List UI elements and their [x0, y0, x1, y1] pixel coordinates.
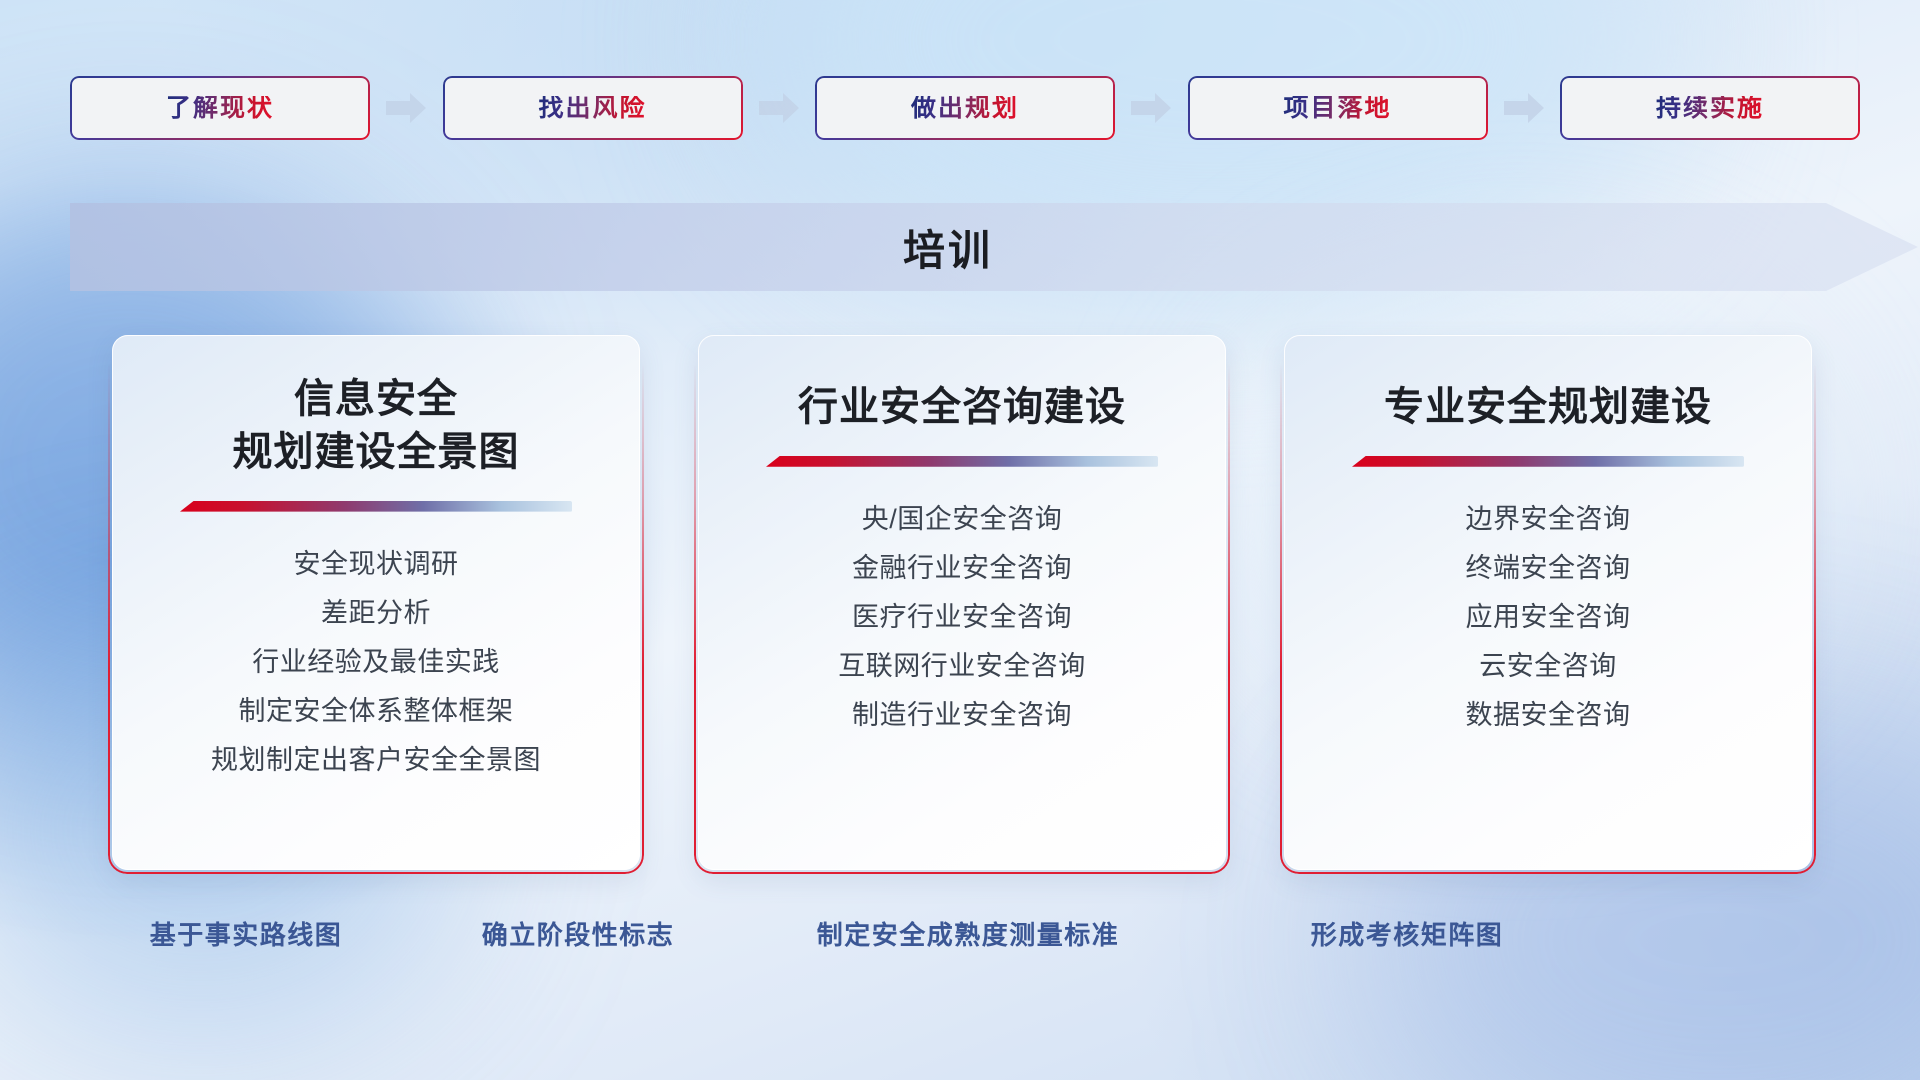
list-item: 制定安全体系整体框架 — [239, 693, 514, 729]
list-item: 行业经验及最佳实践 — [252, 644, 500, 680]
caption-row: 基于事实路线图 确立阶段性标志 制定安全成熟度测量标准 形成考核矩阵图 — [0, 915, 1920, 957]
process-step-flow: 了解现状 找出风险 做出规划 项目落地 — [70, 76, 1860, 140]
banner-arrow-shape — [70, 203, 1918, 291]
process-step-label: 项目落地 — [1283, 96, 1391, 121]
card-0[interactable]: 信息安全 规划建设全景图 安全现状调研 差距分析 行业经验及最佳实践 制定安全体… — [112, 335, 640, 870]
background-blob — [760, 0, 1660, 300]
arrow-right-icon — [757, 91, 801, 125]
process-step-0[interactable]: 了解现状 — [70, 76, 370, 140]
arrow-right-icon — [384, 91, 428, 125]
list-item: 制造行业安全咨询 — [852, 697, 1072, 733]
process-step-4[interactable]: 持续实施 — [1560, 76, 1860, 140]
caption-2: 制定安全成熟度测量标准 — [817, 915, 1120, 952]
card-2[interactable]: 专业安全规划建设 边界安全咨询 终端安全咨询 应用安全咨询 云安全咨询 数据安全… — [1284, 335, 1812, 870]
card-list: 安全现状调研 差距分析 行业经验及最佳实践 制定安全体系整体框架 规划制定出客户… — [136, 546, 616, 779]
card-title: 信息安全 规划建设全景图 — [233, 373, 520, 479]
card-divider — [180, 501, 572, 512]
card-title-line: 行业安全咨询建设 — [798, 381, 1126, 434]
list-item: 数据安全咨询 — [1466, 697, 1631, 733]
process-step-1[interactable]: 找出风险 — [443, 76, 743, 140]
process-step-label: 了解现状 — [166, 96, 274, 121]
card-title: 专业安全规划建设 — [1384, 381, 1712, 434]
list-item: 应用安全咨询 — [1466, 599, 1631, 635]
card-list: 边界安全咨询 终端安全咨询 应用安全咨询 云安全咨询 数据安全咨询 — [1308, 501, 1788, 734]
list-item: 医疗行业安全咨询 — [852, 599, 1072, 635]
card-divider — [1352, 456, 1744, 467]
list-item: 边界安全咨询 — [1466, 501, 1631, 537]
card-1[interactable]: 行业安全咨询建设 央/国企安全咨询 金融行业安全咨询 医疗行业安全咨询 互联网行… — [698, 335, 1226, 870]
list-item: 安全现状调研 — [294, 546, 459, 582]
card-title-line: 专业安全规划建设 — [1384, 381, 1712, 434]
card-row: 信息安全 规划建设全景图 安全现状调研 差距分析 行业经验及最佳实践 制定安全体… — [112, 335, 1812, 870]
list-item: 差距分析 — [321, 595, 431, 631]
list-item: 规划制定出客户安全全景图 — [211, 742, 541, 778]
arrow-right-icon — [1129, 91, 1173, 125]
training-banner: 培训 — [70, 203, 1918, 291]
caption-3: 形成考核矩阵图 — [1311, 915, 1504, 952]
infographic-canvas: 了解现状 找出风险 做出规划 项目落地 — [0, 0, 1920, 1080]
process-step-2[interactable]: 做出规划 — [815, 76, 1115, 140]
card-title-line: 信息安全 — [233, 373, 520, 426]
process-step-label: 做出规划 — [911, 96, 1019, 121]
card-title-line: 规划建设全景图 — [233, 426, 520, 479]
caption-0: 基于事实路线图 — [150, 915, 343, 952]
process-step-label: 找出风险 — [538, 96, 646, 121]
card-title: 行业安全咨询建设 — [798, 381, 1126, 434]
process-step-label: 持续实施 — [1656, 96, 1764, 121]
card-divider — [766, 456, 1158, 467]
banner-label: 培训 — [70, 203, 1918, 291]
list-item: 互联网行业安全咨询 — [838, 648, 1086, 684]
card-list: 央/国企安全咨询 金融行业安全咨询 医疗行业安全咨询 互联网行业安全咨询 制造行… — [722, 501, 1202, 734]
list-item: 云安全咨询 — [1479, 648, 1617, 684]
list-item: 金融行业安全咨询 — [852, 550, 1072, 586]
process-step-3[interactable]: 项目落地 — [1188, 76, 1488, 140]
list-item: 终端安全咨询 — [1466, 550, 1631, 586]
caption-1: 确立阶段性标志 — [482, 915, 675, 952]
list-item: 央/国企安全咨询 — [862, 501, 1063, 537]
arrow-right-icon — [1502, 91, 1546, 125]
